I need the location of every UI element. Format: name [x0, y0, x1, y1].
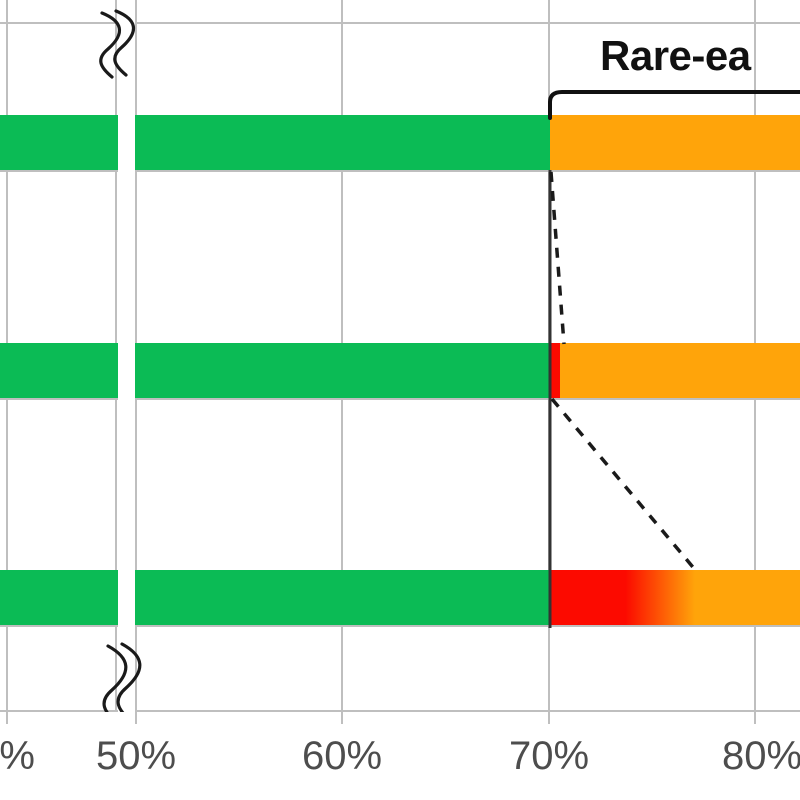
tick-mark-0 [6, 712, 8, 724]
tick-label-80: 80% [722, 734, 800, 779]
leader-line-dashed-bar2-bar3 [552, 399, 697, 572]
plot-area: Rare-ea [0, 0, 800, 712]
tick-label-60: 60% [302, 734, 382, 779]
bar-3-segment-orange [695, 570, 800, 625]
bar-3-segment-red-fade [550, 570, 695, 625]
tick-mark-50 [135, 712, 137, 724]
chart-root: Rare-ea 0% 50% 60% 70% 80% [0, 0, 800, 800]
bar-3-segment-green [0, 570, 550, 625]
bar-1-segment-orange [550, 115, 800, 170]
callout-label: Rare-ea [600, 32, 751, 80]
tick-mark-60 [341, 712, 343, 724]
bar-1-segment-green [0, 115, 550, 170]
tick-mark-80 [754, 712, 756, 724]
x-axis: 0% 50% 60% 70% 80% [0, 712, 800, 800]
tick-label-50: 50% [96, 734, 176, 779]
tick-mark-70 [548, 712, 550, 724]
axis-break-gap [118, 0, 135, 712]
bar-2-segment-orange [560, 343, 800, 398]
bar-2-segment-green [0, 343, 550, 398]
bar-2-segment-red [550, 343, 560, 398]
tick-label-70: 70% [509, 734, 589, 779]
leader-line-dashed-bar1-bar2 [551, 172, 564, 344]
tick-label-0: 0% [0, 734, 35, 779]
